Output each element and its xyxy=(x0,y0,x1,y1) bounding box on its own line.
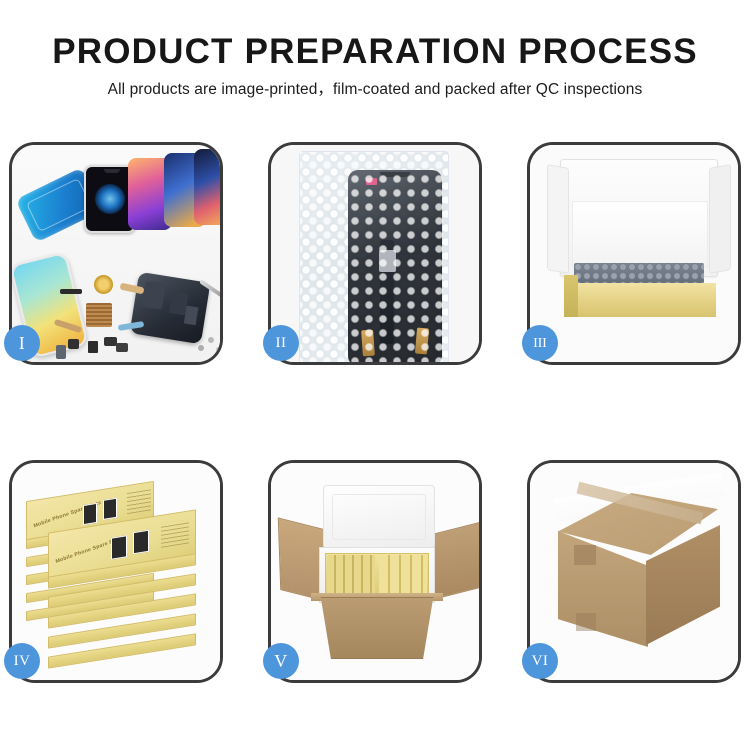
lcd-driver-chip xyxy=(379,250,396,272)
screw-3 xyxy=(216,347,220,352)
chip-array-part xyxy=(86,303,112,327)
yellow-boxes-left-group xyxy=(327,555,375,595)
carton-seam-upper xyxy=(574,545,596,565)
screw-1 xyxy=(208,337,214,343)
front-box-screenshot-2 xyxy=(133,530,149,555)
step-badge-1: I xyxy=(4,325,40,361)
back-box-screenshot-2 xyxy=(103,498,117,520)
front-box-screenshot-1 xyxy=(111,535,127,560)
step-badge-3: III xyxy=(522,325,558,361)
process-step-panel-5: V xyxy=(268,460,482,683)
small-component-1 xyxy=(68,339,79,349)
process-step-grid: I II xyxy=(9,142,741,686)
gold-connector-tab-left xyxy=(361,330,375,357)
gold-connector-tab-right xyxy=(415,328,429,355)
back-box-screenshot-1 xyxy=(83,503,97,525)
step-5-image xyxy=(271,463,479,680)
process-step-panel-2: II xyxy=(268,142,482,365)
phone-back-housing xyxy=(130,272,211,344)
step-badge-5: V xyxy=(263,643,299,679)
step-4-image: Mobile Phone Spare Parts Mobile Phone Sp… xyxy=(12,463,220,680)
product-preparation-process-page: PRODUCT PREPARATION PROCESS All products… xyxy=(0,0,750,750)
step-3-image xyxy=(530,145,738,362)
page-title: PRODUCT PREPARATION PROCESS xyxy=(0,30,750,74)
step-badge-6: VI xyxy=(522,643,558,679)
step-badge-4: IV xyxy=(4,643,40,679)
screw-2 xyxy=(198,345,204,351)
step-badge-2: II xyxy=(263,325,299,361)
process-step-panel-1: I xyxy=(9,142,223,365)
carton-front-wall xyxy=(313,597,441,659)
rightmost-phone xyxy=(194,149,220,225)
small-component-2 xyxy=(88,341,98,353)
speaker-module-part xyxy=(116,343,128,352)
step-2-image xyxy=(271,145,479,362)
yellow-box-left-face xyxy=(564,275,578,317)
camera-module-part xyxy=(56,345,66,359)
process-step-panel-6: VI xyxy=(527,460,741,683)
yellow-boxes-right-group xyxy=(379,555,427,595)
step-6-image xyxy=(530,463,738,680)
yellow-box-front-face xyxy=(564,283,716,317)
carton-seam-lower xyxy=(576,613,596,631)
back-box-spec-lines xyxy=(127,488,151,514)
header: PRODUCT PREPARATION PROCESS All products… xyxy=(0,30,750,101)
page-subtitle: All products are image-printed，film-coat… xyxy=(0,79,750,101)
styrofoam-lid xyxy=(323,485,435,549)
bubble-wrap-bag xyxy=(299,151,449,362)
speaker-bar-part xyxy=(60,289,82,294)
white-foam-sheet xyxy=(572,201,708,267)
process-step-panel-4: Mobile Phone Spare Parts Mobile Phone Sp… xyxy=(9,460,223,683)
step-1-image xyxy=(12,145,220,362)
copper-coil-part xyxy=(94,275,113,294)
process-step-panel-3: III xyxy=(527,142,741,365)
pink-qc-sticker xyxy=(366,178,377,185)
front-box-spec-lines xyxy=(161,519,189,547)
